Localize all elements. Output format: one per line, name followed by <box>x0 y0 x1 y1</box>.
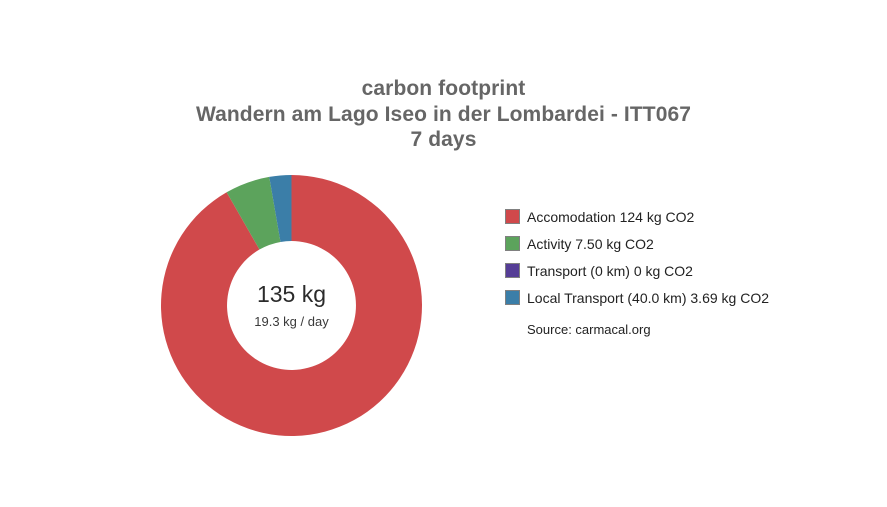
donut-chart: 135 kg 19.3 kg / day <box>161 175 422 436</box>
title-line-trip-name: Wandern am Lago Iseo in der Lombardei - … <box>0 102 887 128</box>
legend-item-accomodation[interactable]: Accomodation 124 kg CO2 <box>505 203 835 230</box>
legend-swatch-accomodation <box>505 209 520 224</box>
chart-legend: Accomodation 124 kg CO2Activity 7.50 kg … <box>505 203 835 311</box>
chart-title: carbon footprint Wandern am Lago Iseo in… <box>0 76 887 153</box>
legend-label-activity: Activity 7.50 kg CO2 <box>527 237 654 251</box>
donut-chart-svg <box>161 175 422 436</box>
donut-slice-group <box>161 175 422 436</box>
legend-item-transport[interactable]: Transport (0 km) 0 kg CO2 <box>505 257 835 284</box>
legend-swatch-local-transport <box>505 290 520 305</box>
source-caption: Source: carmacal.org <box>527 322 651 337</box>
legend-swatch-transport <box>505 263 520 278</box>
chart-canvas: carbon footprint Wandern am Lago Iseo in… <box>0 0 887 507</box>
title-line-primary: carbon footprint <box>0 76 887 102</box>
title-line-duration: 7 days <box>0 127 887 153</box>
legend-label-transport: Transport (0 km) 0 kg CO2 <box>527 264 693 278</box>
legend-label-accomodation: Accomodation 124 kg CO2 <box>527 210 694 224</box>
legend-label-local-transport: Local Transport (40.0 km) 3.69 kg CO2 <box>527 291 769 305</box>
legend-swatch-activity <box>505 236 520 251</box>
legend-item-local-transport[interactable]: Local Transport (40.0 km) 3.69 kg CO2 <box>505 284 835 311</box>
legend-item-activity[interactable]: Activity 7.50 kg CO2 <box>505 230 835 257</box>
